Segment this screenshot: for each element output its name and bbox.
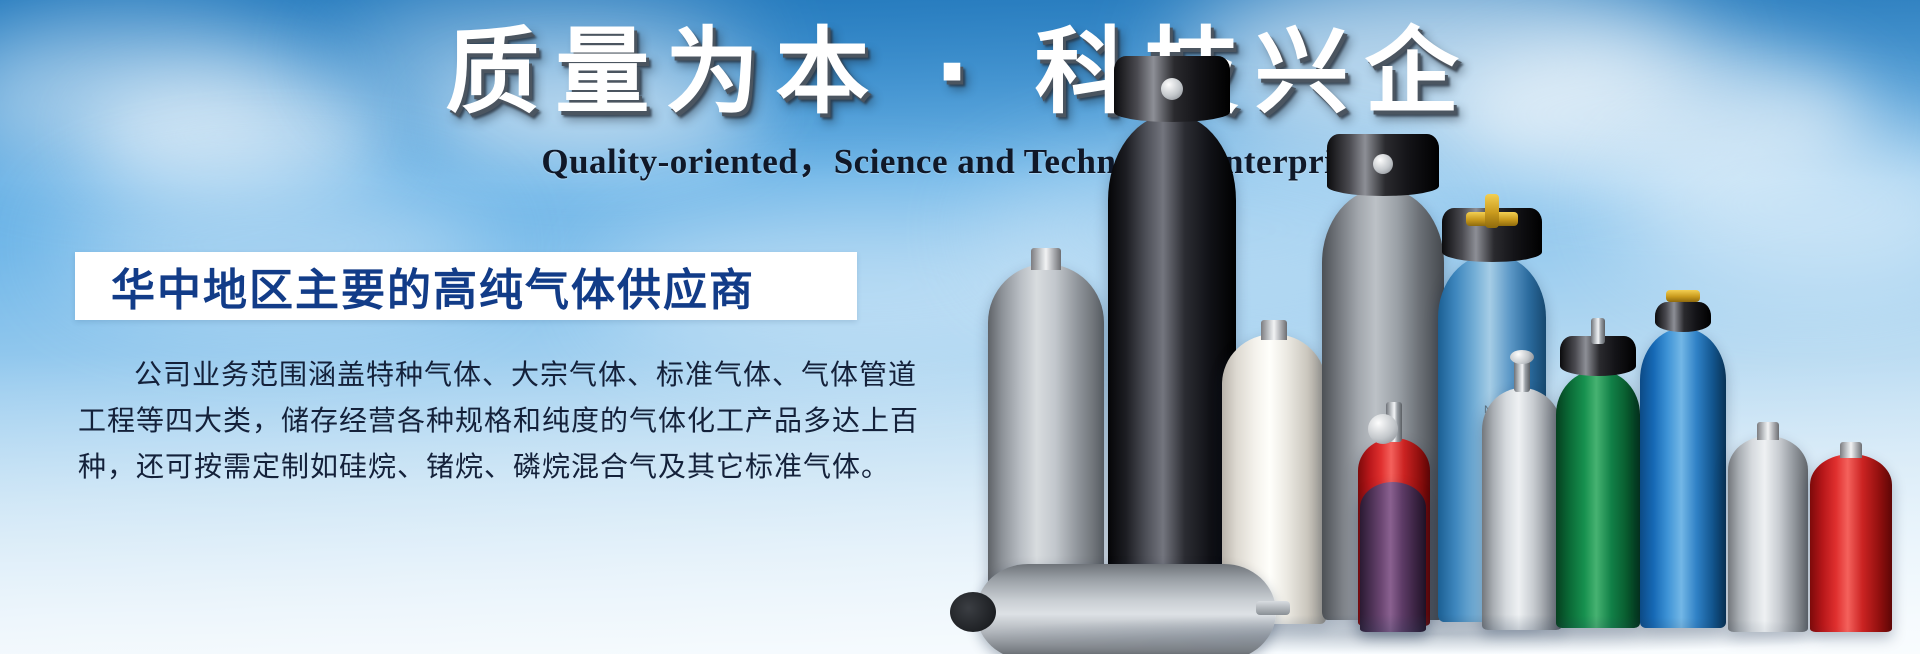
- cylinder-neck: [1840, 442, 1862, 458]
- cylinder-neck: [1031, 248, 1061, 270]
- cylinder-red-short: [1810, 454, 1892, 632]
- cylinder-silver-slim: [1482, 388, 1562, 630]
- cylinder-black-tall: [1108, 114, 1236, 614]
- cylinder-green-medium: [1556, 370, 1640, 628]
- cylinder-body: [1728, 436, 1808, 632]
- tagline-box: 华中地区主要的高纯气体供应商: [75, 252, 857, 320]
- brass-valve-stem-icon: [1485, 194, 1499, 228]
- cylinder-gray-tall-left: [988, 264, 1104, 602]
- cylinder-valve: [1591, 318, 1605, 344]
- gas-cylinder-cluster: N2: [940, 0, 1920, 654]
- cylinder-horizontal-tank: [976, 564, 1276, 654]
- tank-valve: [1256, 601, 1290, 615]
- cylinder-body: [1108, 114, 1236, 614]
- cylinder-body: [1556, 370, 1640, 628]
- cylinder-valve-knob: [1161, 78, 1183, 100]
- cylinder-cap: [1655, 302, 1711, 332]
- cylinder-neck: [1757, 422, 1779, 440]
- promo-banner: 质量为本 · 科技兴企 Quality-oriented，Science and…: [0, 0, 1920, 654]
- cylinder-blue-medium: [1640, 328, 1726, 628]
- pressure-gauge-icon: [1368, 414, 1398, 444]
- cylinder-body: [1482, 388, 1562, 630]
- tagline-text: 华中地区主要的高纯气体供应商: [75, 254, 755, 318]
- cylinder-body: [1640, 328, 1726, 628]
- cylinder-purple-small: [1360, 482, 1426, 632]
- paragraph-line: 工程等四大类，储存经营各种规格和纯度的气体化工产品多达上百: [78, 398, 868, 444]
- cylinder-body: [1810, 454, 1892, 632]
- cylinder-valve-knob: [1373, 154, 1393, 174]
- paragraph-line: 种，还可按需定制如硅烷、锗烷、磷烷混合气及其它标准气体。: [78, 444, 868, 490]
- brass-valve-icon: [1666, 290, 1700, 302]
- cylinder-neck: [1261, 320, 1287, 340]
- cylinder-body: [988, 264, 1104, 602]
- description-paragraph: 公司业务范围涵盖特种气体、大宗气体、标准气体、气体管道 工程等四大类，储存经营各…: [78, 352, 868, 490]
- tank-end-cap: [950, 592, 996, 632]
- paragraph-line: 公司业务范围涵盖特种气体、大宗气体、标准气体、气体管道: [78, 352, 868, 398]
- cylinder-body: [1360, 482, 1426, 632]
- cylinder-valve-knob: [1510, 350, 1534, 364]
- cylinder-silver-short: [1728, 436, 1808, 632]
